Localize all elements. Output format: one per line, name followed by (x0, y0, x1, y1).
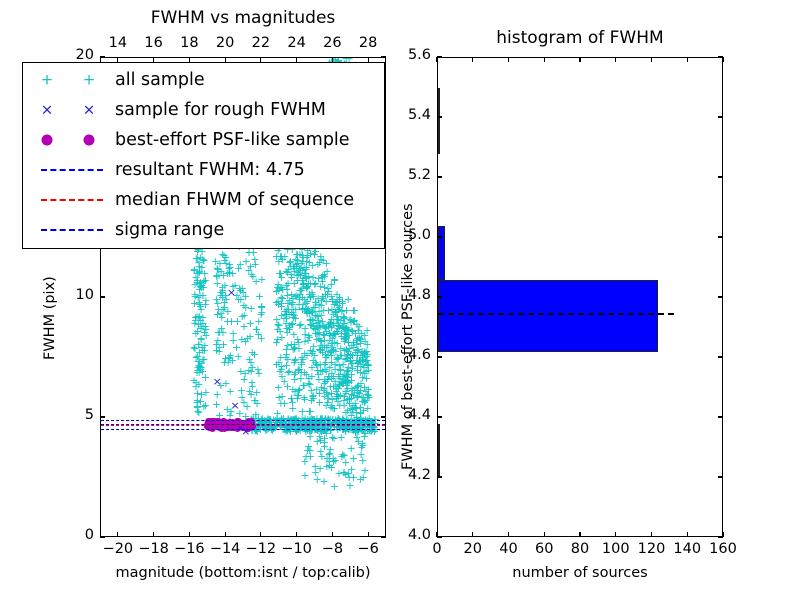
y-tick-label: 5.2 (389, 167, 431, 183)
tick-mark (508, 57, 509, 62)
legend-item[interactable]: best-effort PSF-like sample (27, 125, 382, 155)
tick-mark (718, 416, 723, 417)
legend-item[interactable]: resultant FWHM: 4.75 (27, 155, 382, 185)
scatter-xlabel: magnitude (bottom:isnt / top:calib) (90, 565, 396, 581)
circle-marker-icon (27, 125, 115, 155)
tick-mark (260, 532, 261, 537)
tick-mark (437, 476, 442, 477)
y-tick-label: 5.6 (389, 47, 431, 63)
tick-mark (437, 416, 442, 417)
legend-marker-glyph: × (83, 103, 96, 118)
tick-mark (722, 57, 723, 62)
x-tick-label: 160 (701, 541, 745, 557)
tick-mark (472, 532, 473, 537)
legend-marker-glyph: + (41, 73, 54, 88)
tick-mark (718, 536, 723, 537)
tick-mark (436, 57, 437, 62)
tick-mark (381, 416, 386, 417)
tick-mark (100, 416, 105, 417)
tick-mark (225, 532, 226, 537)
legend-item-label: median FHWM of sequence (115, 190, 354, 210)
figure-canvas: FWHM vs magnitudes +++++++++++++++++++++… (0, 0, 800, 600)
legend-item[interactable]: ××sample for rough FWHM (27, 95, 382, 125)
legend-line-glyph (41, 229, 103, 231)
dashed-line-icon (27, 155, 115, 185)
legend-marker-glyph (84, 135, 95, 146)
dashdot-line-icon (27, 215, 115, 245)
legend-item[interactable]: median FHWM of sequence (27, 185, 382, 215)
legend-marker-glyph: × (41, 103, 54, 118)
tick-mark (718, 356, 723, 357)
x-tick-label-top: 28 (346, 35, 390, 51)
y-tick-label: 5 (52, 407, 94, 423)
y-tick-label: 0 (52, 527, 94, 543)
tick-mark (100, 536, 105, 537)
y-tick-label: 5.4 (389, 107, 431, 123)
legend-item-label: resultant FWHM: 4.75 (115, 160, 305, 180)
tick-mark (687, 532, 688, 537)
legend-marker-glyph (42, 135, 53, 146)
histogram-xlabel: number of sources (437, 565, 723, 581)
tick-mark (651, 57, 652, 62)
tick-mark (718, 176, 723, 177)
tick-mark (189, 532, 190, 537)
tick-mark (437, 356, 442, 357)
scatter-panel-title: FWHM vs magnitudes (100, 8, 386, 28)
tick-mark (368, 532, 369, 537)
y-tick-label: 10 (52, 287, 94, 303)
tick-mark (718, 296, 723, 297)
legend-box: ++all sample××sample for rough FWHMbest-… (22, 62, 385, 249)
tick-mark (100, 296, 105, 297)
x-tick-label: −6 (346, 541, 390, 557)
legend-item[interactable]: sigma range (27, 215, 382, 245)
legend-item[interactable]: ++all sample (27, 65, 382, 95)
tick-mark (117, 532, 118, 537)
tick-mark (437, 176, 442, 177)
y-tick-label: 4.0 (389, 527, 431, 543)
tick-mark (437, 116, 442, 117)
tick-mark (579, 57, 580, 62)
tick-mark (381, 56, 386, 57)
legend-marker-glyph: + (83, 73, 96, 88)
tick-mark (508, 532, 509, 537)
tick-mark (437, 56, 442, 57)
tick-mark (153, 532, 154, 537)
tick-mark (437, 236, 442, 237)
tick-mark (579, 532, 580, 537)
tick-mark (381, 296, 386, 297)
cross-marker-icon: ×× (27, 95, 115, 125)
legend-line-glyph (41, 199, 103, 201)
tick-mark (718, 56, 723, 57)
tick-mark (544, 57, 545, 62)
tick-mark (381, 536, 386, 537)
tick-mark (437, 296, 442, 297)
legend-item-label: all sample (115, 70, 205, 90)
tick-mark (615, 532, 616, 537)
histogram-axes-frame (437, 57, 723, 537)
tick-mark (687, 57, 688, 62)
histogram-ylabel: FWHM of best-effort PSF-like sources (400, 203, 416, 470)
legend-item-label: best-effort PSF-like sample (115, 130, 350, 150)
tick-mark (437, 536, 442, 537)
tick-mark (544, 532, 545, 537)
legend-item-label: sigma range (115, 220, 224, 240)
tick-mark (332, 532, 333, 537)
tick-mark (615, 57, 616, 62)
tick-mark (472, 57, 473, 62)
tick-mark (718, 236, 723, 237)
tick-mark (718, 476, 723, 477)
tick-mark (100, 56, 105, 57)
y-tick-label: 20 (52, 47, 94, 63)
dashed-line-icon (27, 185, 115, 215)
legend-item-label: sample for rough FWHM (115, 100, 326, 120)
tick-mark (718, 116, 723, 117)
legend-line-glyph (41, 169, 103, 171)
plus-marker-icon: ++ (27, 65, 115, 95)
tick-mark (296, 532, 297, 537)
tick-mark (651, 532, 652, 537)
scatter-ylabel: FWHM (pix) (42, 276, 58, 360)
histogram-panel-title: histogram of FWHM (437, 28, 723, 48)
